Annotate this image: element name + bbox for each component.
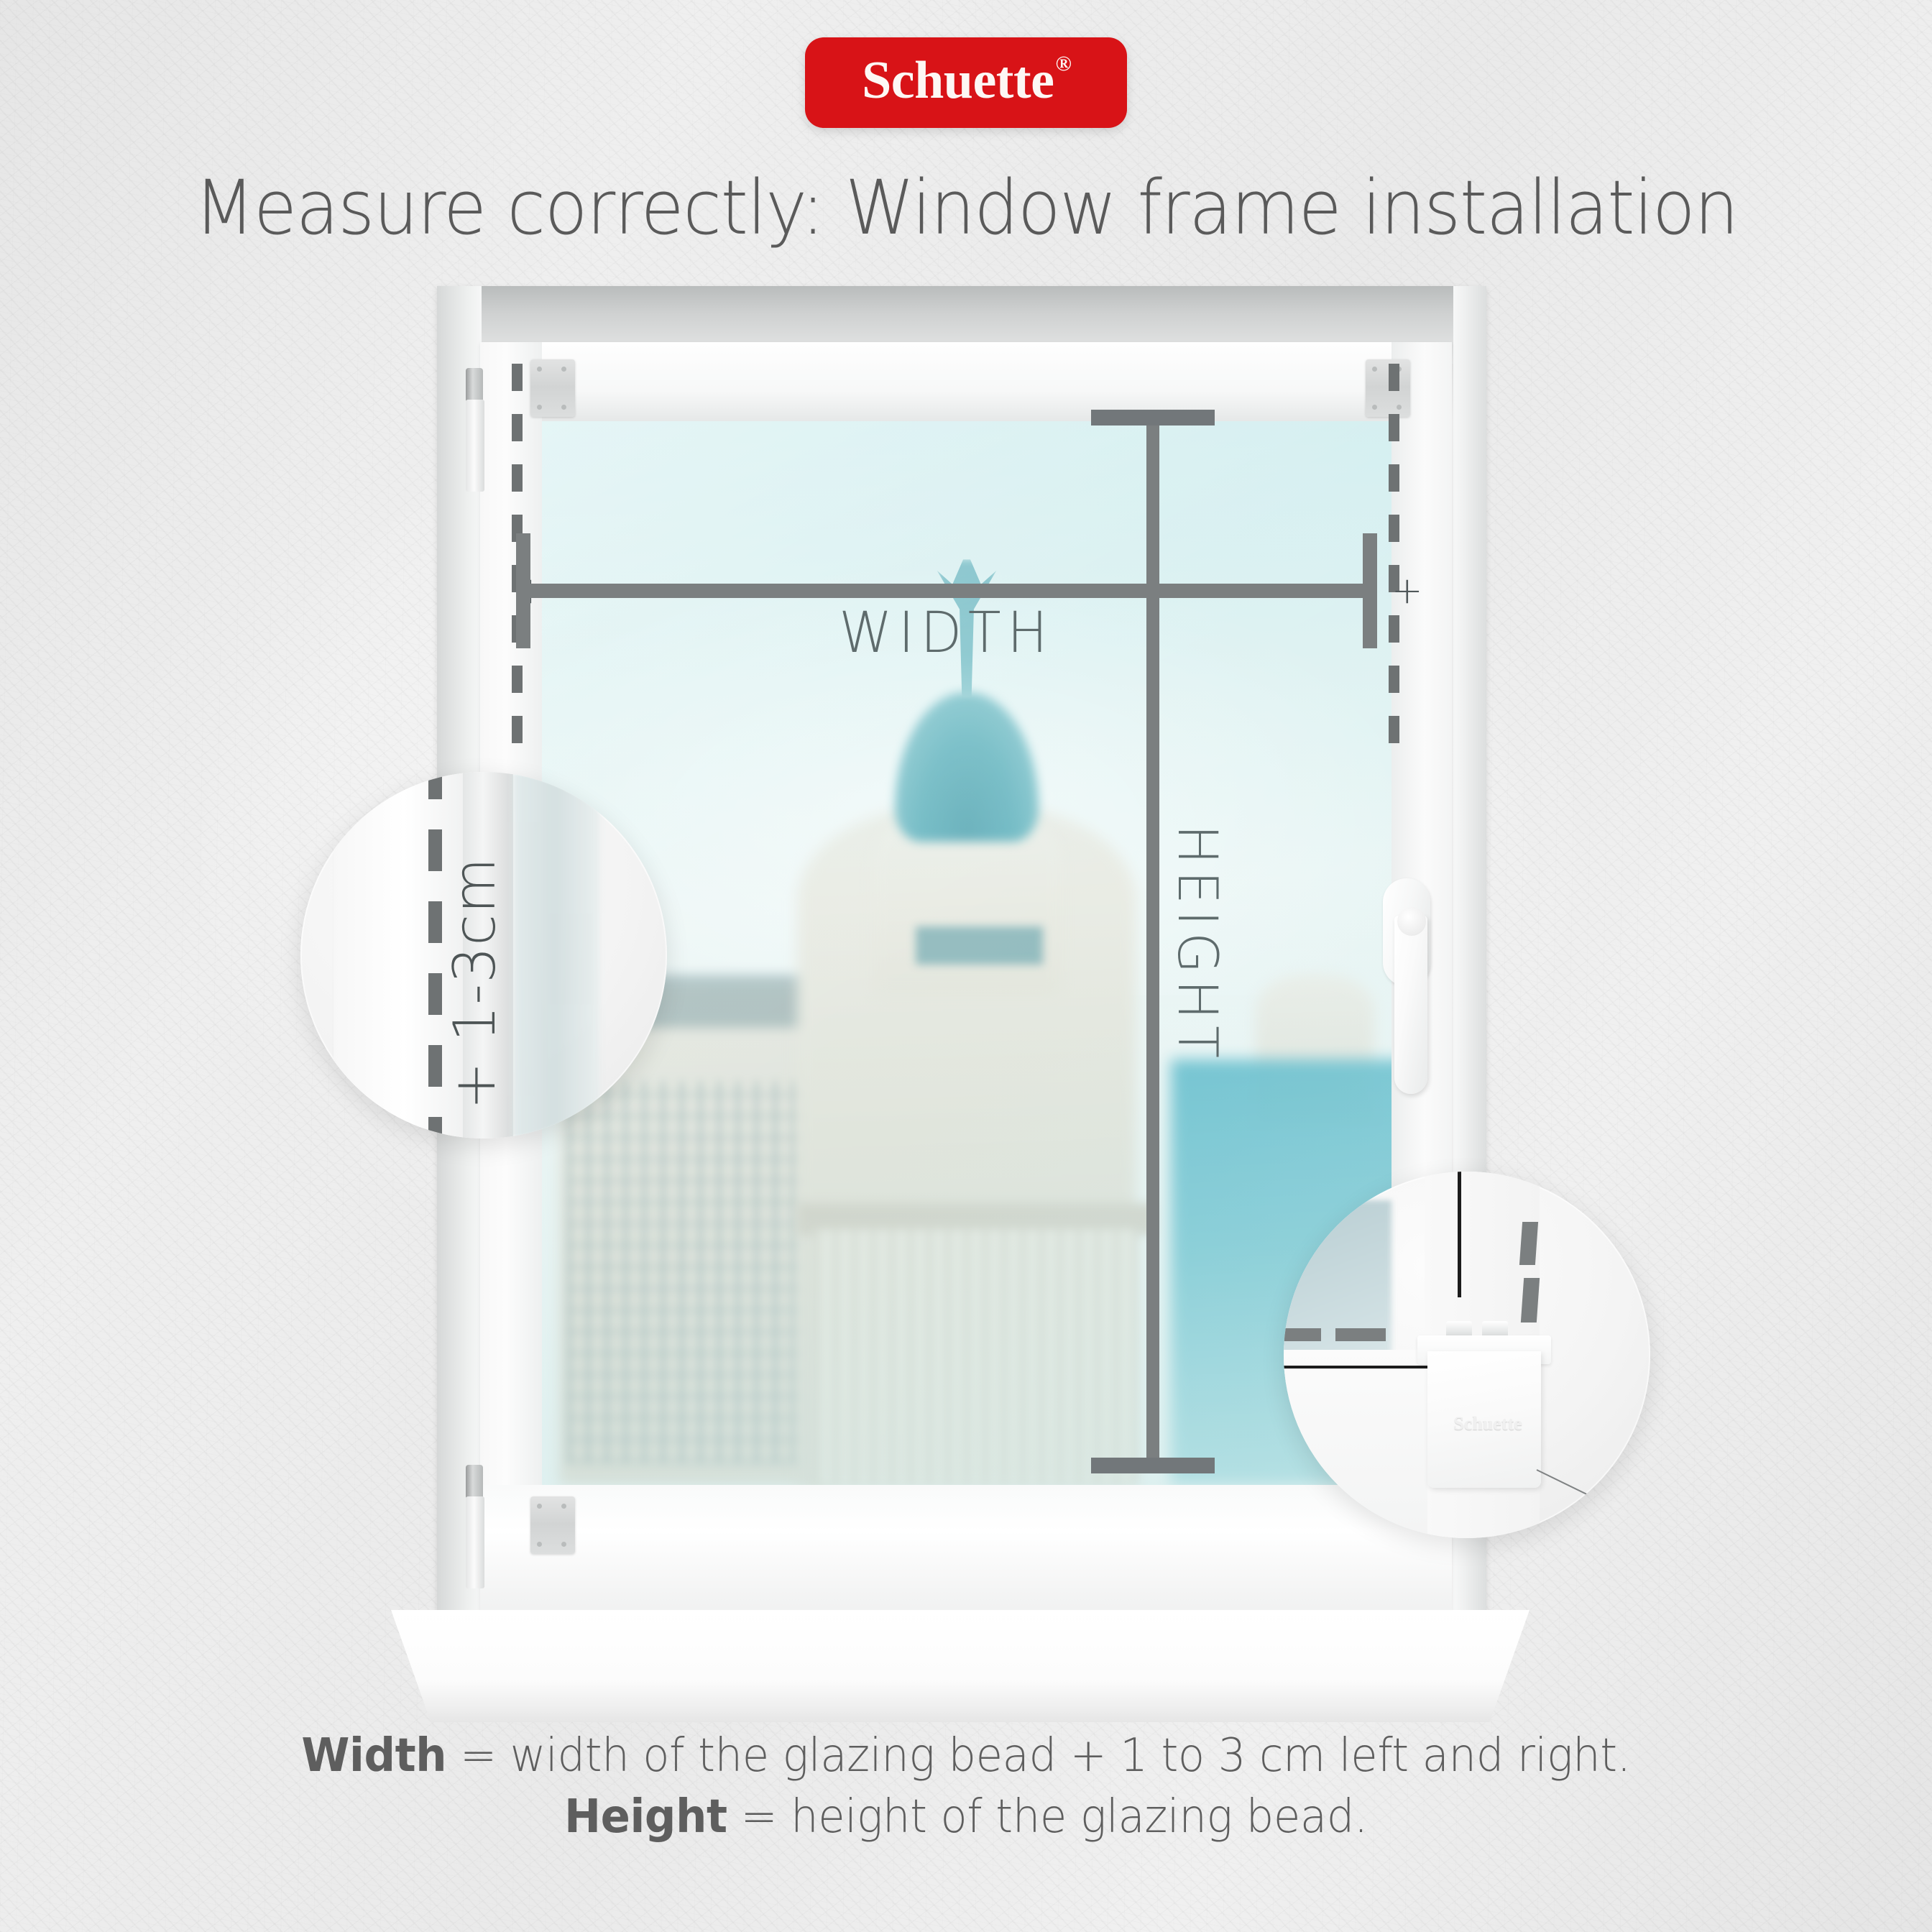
lens-left-glass-edge: [513, 772, 599, 1138]
caption-height-key: Height: [564, 1790, 727, 1844]
page-title: Measure correctly: Window frame installa…: [58, 164, 1874, 252]
height-label-wrap: HEIGHT: [1166, 821, 1230, 1068]
lens-right-brand-emboss: Schuette: [1437, 1413, 1538, 1435]
caption-line-width: Width = width of the glazing bead + 1 to…: [48, 1726, 1884, 1786]
sash-top-rail: [480, 342, 1452, 421]
registered-trademark-icon: ®: [1055, 52, 1071, 76]
lens-right-bead-edge-v: [1458, 1172, 1461, 1297]
handle-lever: [1394, 916, 1427, 1094]
bracket-plate-top-left: [530, 359, 575, 417]
lens-right-dash-1: [1519, 1222, 1538, 1265]
plus-marker-right: +: [1391, 572, 1423, 609]
height-measure-bar: [1146, 410, 1159, 1473]
brand-name: Schuette: [862, 54, 1054, 107]
handle-boss: [1397, 907, 1426, 936]
guide-dashed-right: [1389, 364, 1399, 758]
height-label: HEIGHT: [1166, 824, 1230, 1064]
caption-line-height: Height = height of the glazing bead.: [48, 1787, 1884, 1847]
glass-pane: [542, 421, 1391, 1485]
brand-logo: Schuette®: [805, 37, 1127, 128]
caption-width-rule: = width of the glazing bead + 1 to 3 cm …: [446, 1729, 1630, 1782]
window-illustration: + + WIDTH HEIGHT + 1-3cm Schuette: [0, 0, 1932, 1932]
window-sill: [391, 1610, 1529, 1722]
height-cap-top: [1091, 410, 1215, 425]
caption-width-key: Width: [301, 1729, 446, 1782]
window-handle[interactable]: [1383, 878, 1430, 1094]
detail-lens-left: + 1-3cm: [300, 772, 667, 1138]
bracket-plate-top-right: [1366, 359, 1410, 417]
glass-reflection: [542, 421, 1391, 1485]
lens-right-leader-line: [1537, 1469, 1650, 1538]
hinge-bottom: [466, 1465, 483, 1499]
detail-lens-right: Schuette: [1284, 1172, 1650, 1538]
caption-height-rule: = height of the glazing bead.: [727, 1790, 1368, 1844]
lens-right-sash-face: [1284, 1350, 1427, 1538]
tolerance-label: + 1-3cm: [441, 857, 508, 1110]
width-label: WIDTH: [839, 601, 1054, 666]
hinge-body-bottom: [466, 1496, 484, 1588]
lens-right-bead-edge-h: [1284, 1366, 1427, 1368]
hinge-top: [466, 368, 483, 402]
lens-left-dashed-guide: [428, 772, 442, 1138]
width-label-wrap: WIDTH: [516, 601, 1377, 666]
lens-right-dash-4: [1335, 1328, 1386, 1341]
lens-right-dash-3: [1284, 1328, 1321, 1341]
lens-right-dash-2: [1521, 1278, 1540, 1322]
caption-block: Width = width of the glazing bead + 1 to…: [0, 1726, 1932, 1847]
hinge-body-top: [466, 400, 484, 492]
height-cap-bottom: [1091, 1458, 1215, 1473]
bracket-plate-bottom-left: [530, 1496, 575, 1554]
width-measure-bar: [516, 584, 1377, 598]
